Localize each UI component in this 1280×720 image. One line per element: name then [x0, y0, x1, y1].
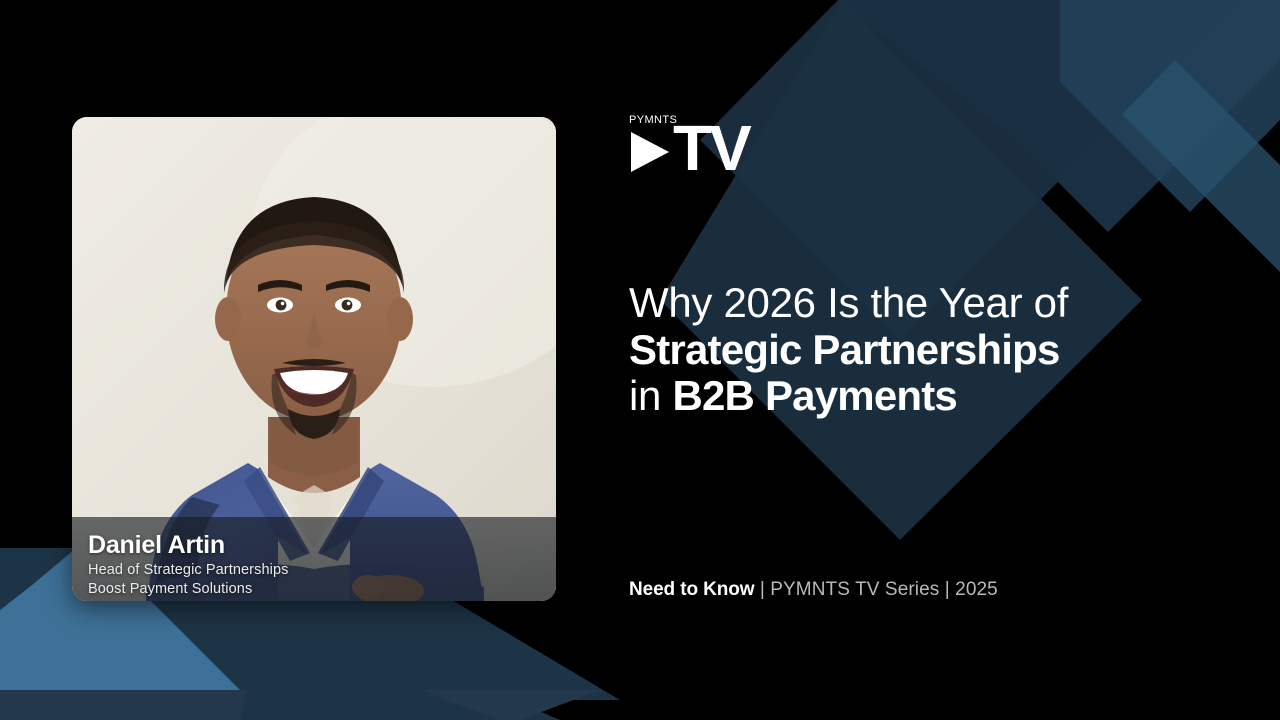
speaker-organization: Boost Payment Solutions	[88, 580, 556, 598]
series-meta: | PYMNTS TV Series | 2025	[754, 579, 997, 600]
headline: Why 2026 Is the Year of Strategic Partne…	[629, 281, 1189, 418]
pymnts-tv-logo: PYMNTS TV	[629, 110, 849, 178]
headline-line-1: Why 2026 Is the Year of	[629, 281, 1189, 325]
speaker-nameplate: Daniel Artin Head of Strategic Partnersh…	[72, 517, 556, 601]
bg-shape-bottom-left-accent	[240, 630, 500, 720]
content-column: PYMNTS TV Why 2026 Is the Year of Strate…	[629, 0, 1229, 720]
title-card-slide: Daniel Artin Head of Strategic Partnersh…	[0, 0, 1280, 720]
logo-pymnts-text: PYMNTS	[629, 114, 677, 126]
series-label: Need to Know	[629, 579, 754, 600]
headline-line-3-bold: B2B Payments	[672, 372, 957, 419]
headline-line-3: in B2B Payments	[629, 374, 1189, 418]
speaker-role: Head of Strategic Partnerships	[88, 561, 556, 579]
play-triangle-icon	[631, 132, 669, 172]
speaker-photo-card: Daniel Artin Head of Strategic Partnersh…	[72, 117, 556, 601]
speaker-name: Daniel Artin	[88, 532, 556, 558]
bg-shape-bottom-band	[0, 690, 600, 720]
headline-line-3-prefix: in	[629, 372, 672, 419]
series-footer: Need to Know | PYMNTS TV Series | 2025	[629, 577, 998, 604]
logo-tv-text: TV	[673, 112, 752, 178]
headline-line-2: Strategic Partnerships	[629, 328, 1189, 372]
